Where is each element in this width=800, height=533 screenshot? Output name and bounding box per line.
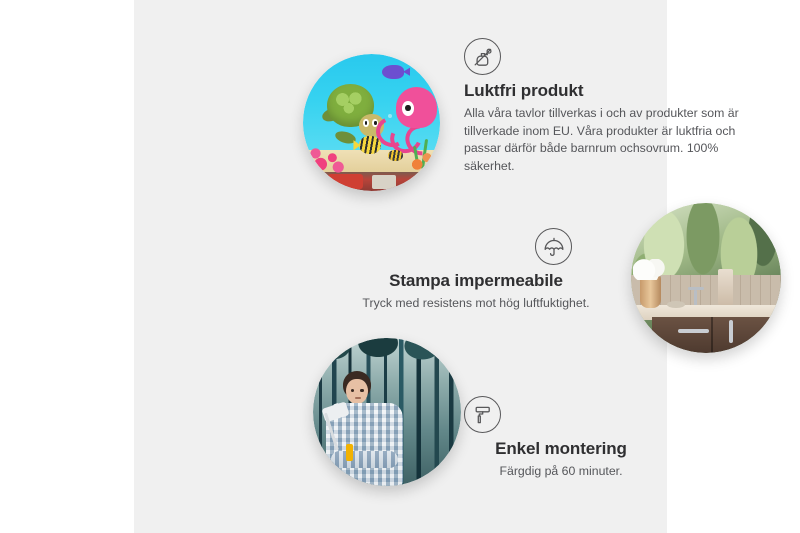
feature-title: Luktfri produkt (464, 81, 760, 101)
feature-odourless: Luktfri produkt Alla våra tavlor tillver… (464, 38, 760, 175)
feature-easy-install: Enkel montering Färgdig på 60 minuter. (452, 396, 670, 481)
forest-mural-photo (313, 338, 461, 486)
pink-coral-icon (308, 139, 349, 175)
wooden-vanity (652, 317, 781, 353)
small-fish-icon (388, 150, 403, 161)
feature-body: Färgdig på 60 minuter. (452, 463, 670, 480)
crossed-arms (331, 451, 397, 467)
feature-title: Stampa impermeabile (352, 271, 600, 291)
feature-body: Tryck med resistens mot hög luftfuktighe… (352, 295, 600, 312)
feature-waterproof: Stampa impermeabile Tryck med resistens … (352, 228, 600, 313)
yellow-striped-fish-icon (359, 136, 381, 154)
bathroom-tropical-wallpaper-circle-image (631, 203, 781, 353)
smile (355, 397, 362, 399)
octopus-eye (402, 101, 414, 116)
no-fragrance-icon (464, 38, 501, 75)
content-panel: Luktfri produkt Alla våra tavlor tillver… (134, 0, 667, 533)
woman-paint-roller-forest-circle-image (313, 338, 461, 486)
octopus-icon (380, 87, 438, 145)
bathroom-photo (631, 203, 781, 353)
feature-title: Enkel montering (452, 439, 670, 459)
face (346, 379, 368, 404)
yellow-tool (346, 444, 353, 460)
soap-dish (667, 301, 685, 309)
cabinet-handle (729, 320, 733, 343)
orange-coral-icon (404, 144, 437, 174)
octopus-head (396, 87, 437, 128)
photo-strip (303, 172, 440, 191)
toiletry-bottle (718, 269, 733, 305)
umbrella-icon (535, 228, 572, 265)
drawer-handle (678, 329, 709, 333)
feature-body: Alla våra tavlor tillverkas i och av pro… (464, 105, 760, 175)
page-root: Luktfri produkt Alla våra tavlor tillver… (0, 0, 800, 533)
underwater-cartoon-circle-image (303, 54, 440, 191)
white-flowers (633, 259, 669, 280)
paint-roller-icon (464, 396, 501, 433)
purple-fish-icon (382, 65, 404, 79)
turtle-eye (363, 119, 370, 127)
aquarium-artwork (303, 54, 440, 191)
woman-figure (325, 371, 408, 486)
vase (640, 275, 661, 308)
